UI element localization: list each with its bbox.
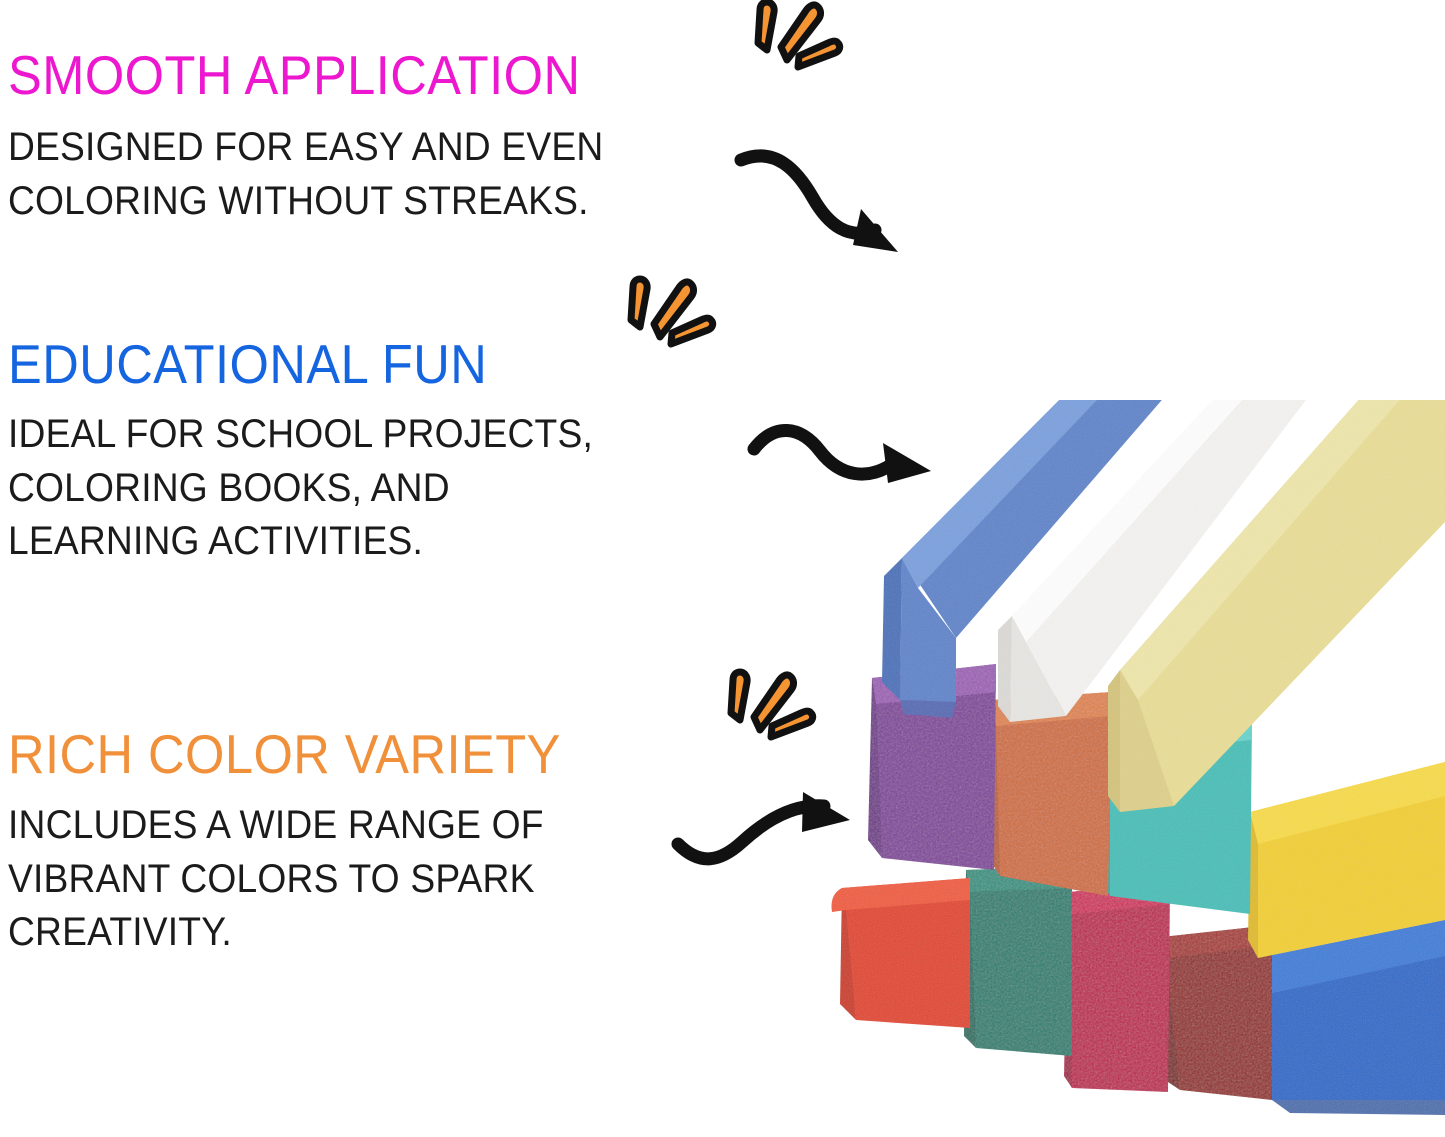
feature-block-smooth-application: SMOOTH APPLICATION DESIGNED FOR EASY AND… — [8, 48, 648, 228]
feature-body-line: COLORING BOOKS, AND — [8, 462, 593, 516]
infographic-canvas: SMOOTH APPLICATION DESIGNED FOR EASY AND… — [0, 0, 1445, 1137]
feature-body-rich-color-variety: INCLUDES A WIDE RANGE OF VIBRANT COLORS … — [8, 799, 567, 960]
feature-block-rich-color-variety: RICH COLOR VARIETY INCLUDES A WIDE RANGE… — [8, 727, 609, 960]
feature-heading-rich-color-variety: RICH COLOR VARIETY — [8, 727, 561, 782]
feature-block-educational-fun: EDUCATIONAL FUN IDEAL FOR SCHOOL PROJECT… — [8, 337, 637, 569]
feature-heading-smooth-application: SMOOTH APPLICATION — [8, 48, 597, 103]
magenta-chalk-stick — [1064, 884, 1170, 1092]
feature-body-line: INCLUDES A WIDE RANGE OF — [8, 799, 567, 853]
feature-body-line: LEARNING ACTIVITIES. — [8, 515, 593, 569]
wavy-arrow-icon — [735, 148, 950, 263]
product-photo-chalk-stack — [820, 400, 1445, 1137]
red-orange-chalk-stick — [831, 878, 970, 1028]
teal-green-chalk-stick — [964, 866, 1072, 1056]
feature-body-line: COLORING WITHOUT STREAKS. — [8, 175, 603, 229]
feature-body-line: IDEAL FOR SCHOOL PROJECTS, — [8, 408, 593, 462]
sparkle-burst-icon — [718, 668, 828, 748]
feature-body-line: VIBRANT COLORS TO SPARK — [8, 853, 567, 907]
feature-body-line: CREATIVITY. — [8, 906, 567, 960]
feature-body-line: DESIGNED FOR EASY AND EVEN — [8, 121, 603, 175]
feature-body-educational-fun: IDEAL FOR SCHOOL PROJECTS, COLORING BOOK… — [8, 408, 593, 569]
feature-heading-educational-fun: EDUCATIONAL FUN — [8, 337, 587, 392]
orange-chalk-stick — [988, 692, 1112, 896]
sparkle-burst-icon — [745, 0, 855, 78]
feature-body-smooth-application: DESIGNED FOR EASY AND EVEN COLORING WITH… — [8, 121, 603, 228]
